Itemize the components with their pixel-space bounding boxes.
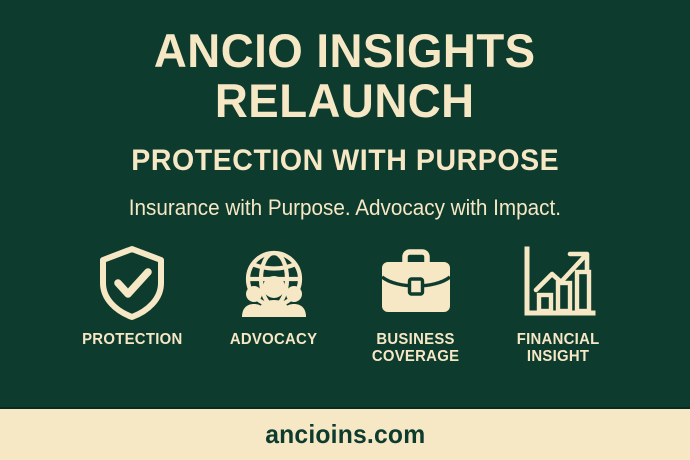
footer-bar: ancioins.com (0, 409, 690, 460)
briefcase-icon (377, 243, 455, 321)
promo-banner: ANCIO INSIGHTSRELAUNCH PROTECTION WITH P… (0, 0, 690, 460)
feature-label-financial-insight: FINANCIAL INSIGHT (517, 331, 600, 366)
feature-item-protection: PROTECTION (78, 243, 186, 348)
tagline: Insurance with Purpose. Advocacy with Im… (129, 195, 561, 221)
headline-line-1: ANCIO INSIGHTS (154, 24, 536, 77)
subheadline: PROTECTION WITH PURPOSE (131, 144, 559, 178)
hero-section: ANCIO INSIGHTSRELAUNCH PROTECTION WITH P… (0, 0, 690, 407)
feature-label-advocacy: ADVOCACY (230, 331, 317, 348)
shield-check-icon (93, 243, 171, 321)
feature-label-protection: PROTECTION (82, 331, 182, 348)
website-url[interactable]: ancioins.com (265, 419, 425, 450)
feature-item-business-coverage: BUSINESS COVERAGE (362, 243, 470, 366)
feature-item-financial-insight: FINANCIAL INSIGHT (504, 243, 612, 366)
bar-chart-arrow-icon (519, 243, 597, 321)
headline-line-2: RELAUNCH (154, 76, 536, 126)
globe-people-icon (235, 243, 313, 321)
feature-item-advocacy: ADVOCACY (220, 243, 328, 348)
feature-label-business-coverage: BUSINESS COVERAGE (372, 331, 459, 366)
page-title: ANCIO INSIGHTSRELAUNCH (154, 26, 536, 126)
feature-list: PROTECTION (0, 243, 690, 366)
